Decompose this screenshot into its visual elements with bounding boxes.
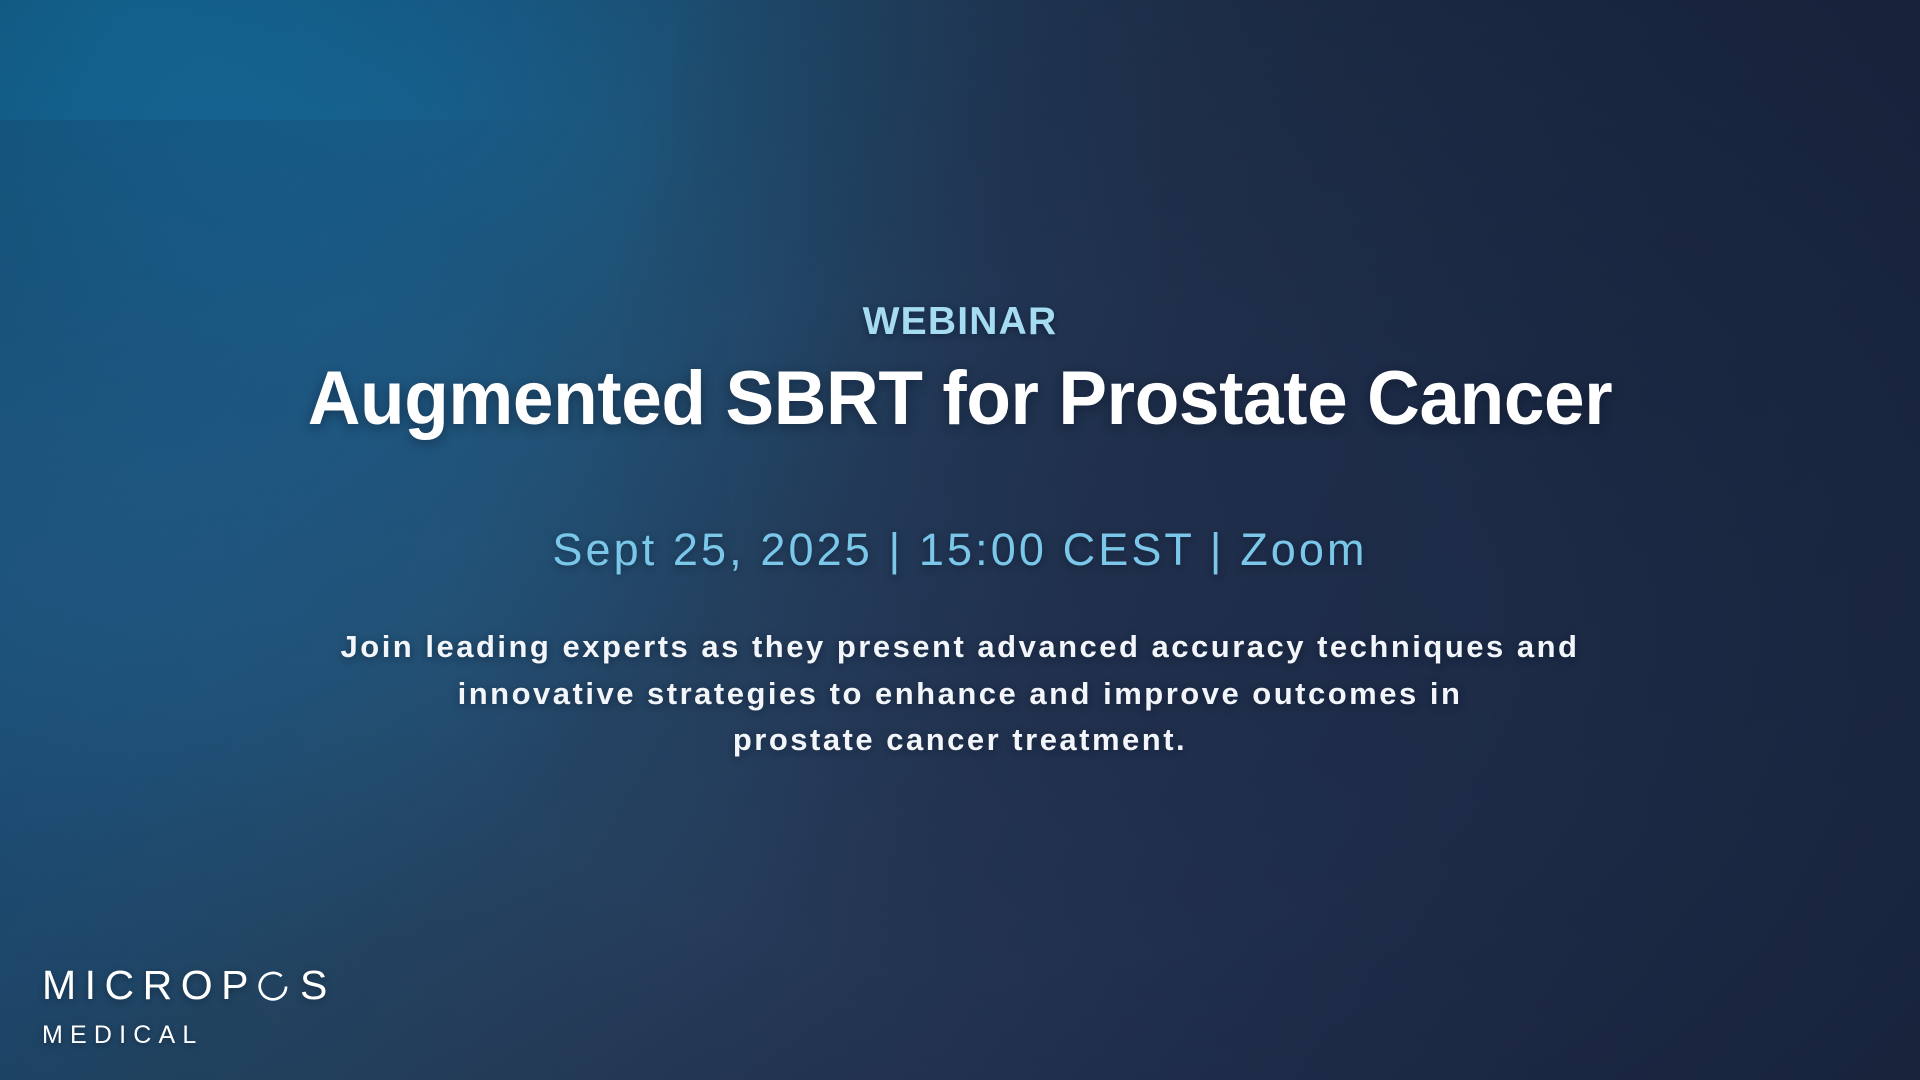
logo-wordmark: MICROP S <box>42 963 336 1007</box>
open-ring-o-icon <box>258 970 291 1003</box>
text-block: WEBINAR Augmented SBRT for Prostate Canc… <box>0 302 1920 764</box>
description-line: innovative strategies to enhance and imp… <box>250 671 1670 718</box>
description-line: Join leading experts as they present adv… <box>250 624 1670 671</box>
logo-word-part-two: S <box>300 965 336 1006</box>
micropos-medical-logo: MICROP S MEDICAL <box>42 963 336 1048</box>
event-description: Join leading experts as they present adv… <box>250 624 1670 764</box>
page-title: Augmented SBRT for Prostate Cancer <box>38 359 1881 438</box>
eyebrow-label: WEBINAR <box>0 302 1920 341</box>
logo-subtitle: MEDICAL <box>42 1023 336 1048</box>
logo-word-part-one: MICROP <box>42 965 257 1006</box>
event-details: Sept 25, 2025 | 15:00 CEST | Zoom <box>0 527 1920 572</box>
description-line: prostate cancer treatment. <box>250 717 1670 764</box>
poster-content: WEBINAR Augmented SBRT for Prostate Canc… <box>0 0 1920 1080</box>
webinar-poster: WEBINAR Augmented SBRT for Prostate Canc… <box>0 0 1920 1080</box>
